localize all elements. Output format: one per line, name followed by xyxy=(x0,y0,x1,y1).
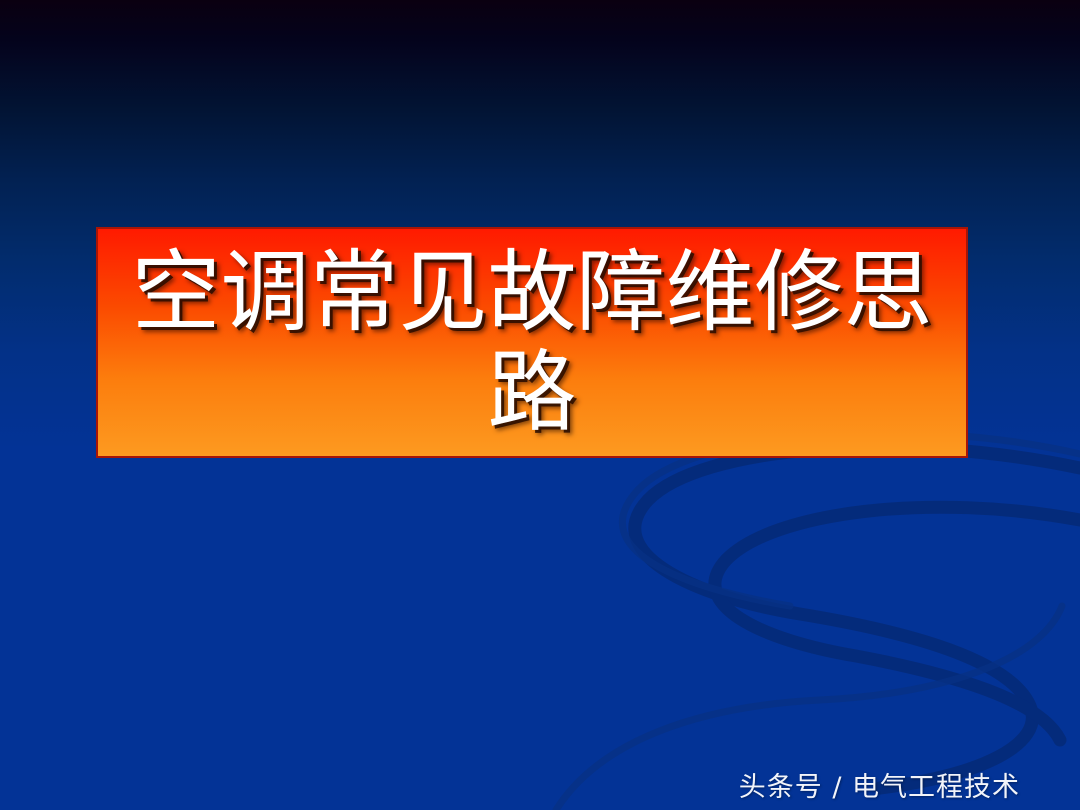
title-card: 空调常见故障维修思 路 xyxy=(96,227,968,458)
page-title: 空调常见故障维修思 路 xyxy=(98,243,966,442)
presentation-slide: 空调常见故障维修思 路 头条号 / 电气工程技术 xyxy=(0,0,1080,810)
watermark-label: 头条号 / 电气工程技术 xyxy=(739,774,1020,801)
